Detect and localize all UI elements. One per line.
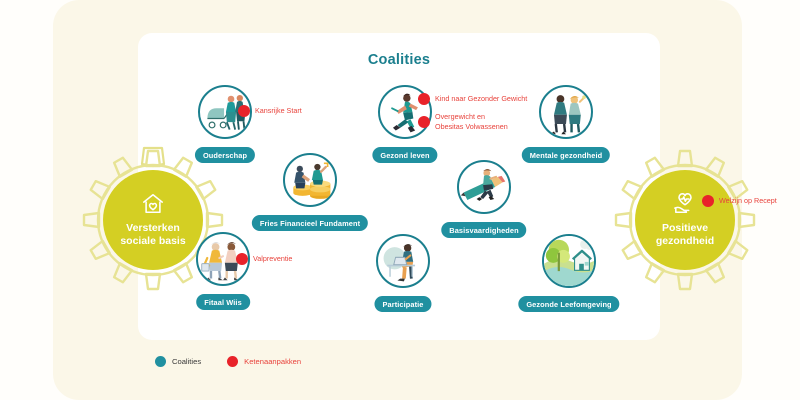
chain-dot-icon — [238, 105, 250, 117]
chain-welzijn-op-recept[interactable]: Welzijn op Recept — [702, 195, 777, 207]
gear-label-line1: Positieve — [662, 222, 708, 235]
chain-kansrijke-start[interactable]: Kansrijke Start — [238, 105, 302, 117]
gear-label-line2: sociale basis — [120, 235, 185, 248]
legend-dot-teal-icon — [155, 356, 166, 367]
coalition-node-gezonde-leefomgeving[interactable]: Gezonde Leefomgeving — [542, 234, 596, 288]
desk-laptop-icon — [376, 234, 430, 288]
chain-dot-icon — [418, 116, 430, 128]
coalition-node-mentale-gezondheid[interactable]: Mentale gezondheid — [539, 85, 593, 139]
chain-kind-gezonder-gewicht[interactable]: Kind naar Gezonder Gewicht — [418, 93, 527, 105]
coins-people-icon — [283, 153, 337, 207]
page-title: Coalities — [138, 52, 660, 68]
chain-valpreventie[interactable]: Valpreventie — [236, 253, 292, 265]
gear-label-line1: Versterken — [126, 222, 180, 235]
heart-in-hand-icon — [672, 192, 698, 219]
chain-dot-icon — [702, 195, 714, 207]
legend-label-coalities: Coalities — [172, 357, 201, 366]
coalition-node-participatie[interactable]: Participatie — [376, 234, 430, 288]
infographic-canvas: Coalities — [0, 0, 800, 400]
chain-label: Kansrijke Start — [255, 106, 302, 116]
tree-house-icon — [542, 234, 596, 288]
legend-item-ketenaanpakken: Ketenaanpakken — [227, 356, 301, 367]
legend-item-coalities: Coalities — [155, 356, 201, 367]
gear-hub-versterken: Versterken sociale basis — [103, 170, 203, 270]
legend: Coalities Ketenaanpakken — [155, 356, 301, 367]
chain-label-line1: Overgewicht en — [435, 112, 485, 121]
coalition-label-mentale-gezondheid: Mentale gezondheid — [522, 147, 610, 163]
coalition-label-gezonde-leefomgeving: Gezonde Leefomgeving — [518, 296, 619, 312]
gear-label-line2: gezondheid — [656, 235, 714, 248]
coalition-label-gezond-leven: Gezond leven — [372, 147, 437, 163]
coalition-label-participatie: Participatie — [374, 296, 431, 312]
coalition-label-basisvaardigheden: Basisvaardigheden — [441, 222, 526, 238]
chain-overgewicht-obesitas[interactable]: Overgewicht en Obesitas Volwassenen — [418, 112, 508, 131]
chain-dot-icon — [418, 93, 430, 105]
chain-label: Welzijn op Recept — [719, 196, 777, 206]
coalition-node-basisvaardigheden[interactable]: Basisvaardigheden — [457, 160, 511, 214]
legend-label-ketenaanpakken: Ketenaanpakken — [244, 357, 301, 366]
coalition-node-fries-financieel-fundament[interactable]: Fries Financieel Fundament — [283, 153, 337, 207]
coalition-label-fries-financieel-fundament: Fries Financieel Fundament — [252, 215, 368, 231]
legend-dot-red-icon — [227, 356, 238, 367]
coalition-label-fitaal-wiis: Fitaal Wiis — [196, 294, 250, 310]
chain-label: Kind naar Gezonder Gewicht — [435, 94, 527, 104]
pencil-person-icon — [457, 160, 511, 214]
gear-positieve-gezondheid[interactable]: Positieve gezondheid — [610, 145, 760, 295]
coalition-label-ouderschap: Ouderschap — [195, 147, 255, 163]
chain-label-line2: Obesitas Volwassenen — [435, 122, 508, 131]
gear-hub-positieve: Positieve gezondheid — [635, 170, 735, 270]
chain-dot-icon — [236, 253, 248, 265]
house-heart-icon — [141, 192, 165, 219]
two-people-icon — [539, 85, 593, 139]
chain-label: Valpreventie — [253, 254, 292, 264]
